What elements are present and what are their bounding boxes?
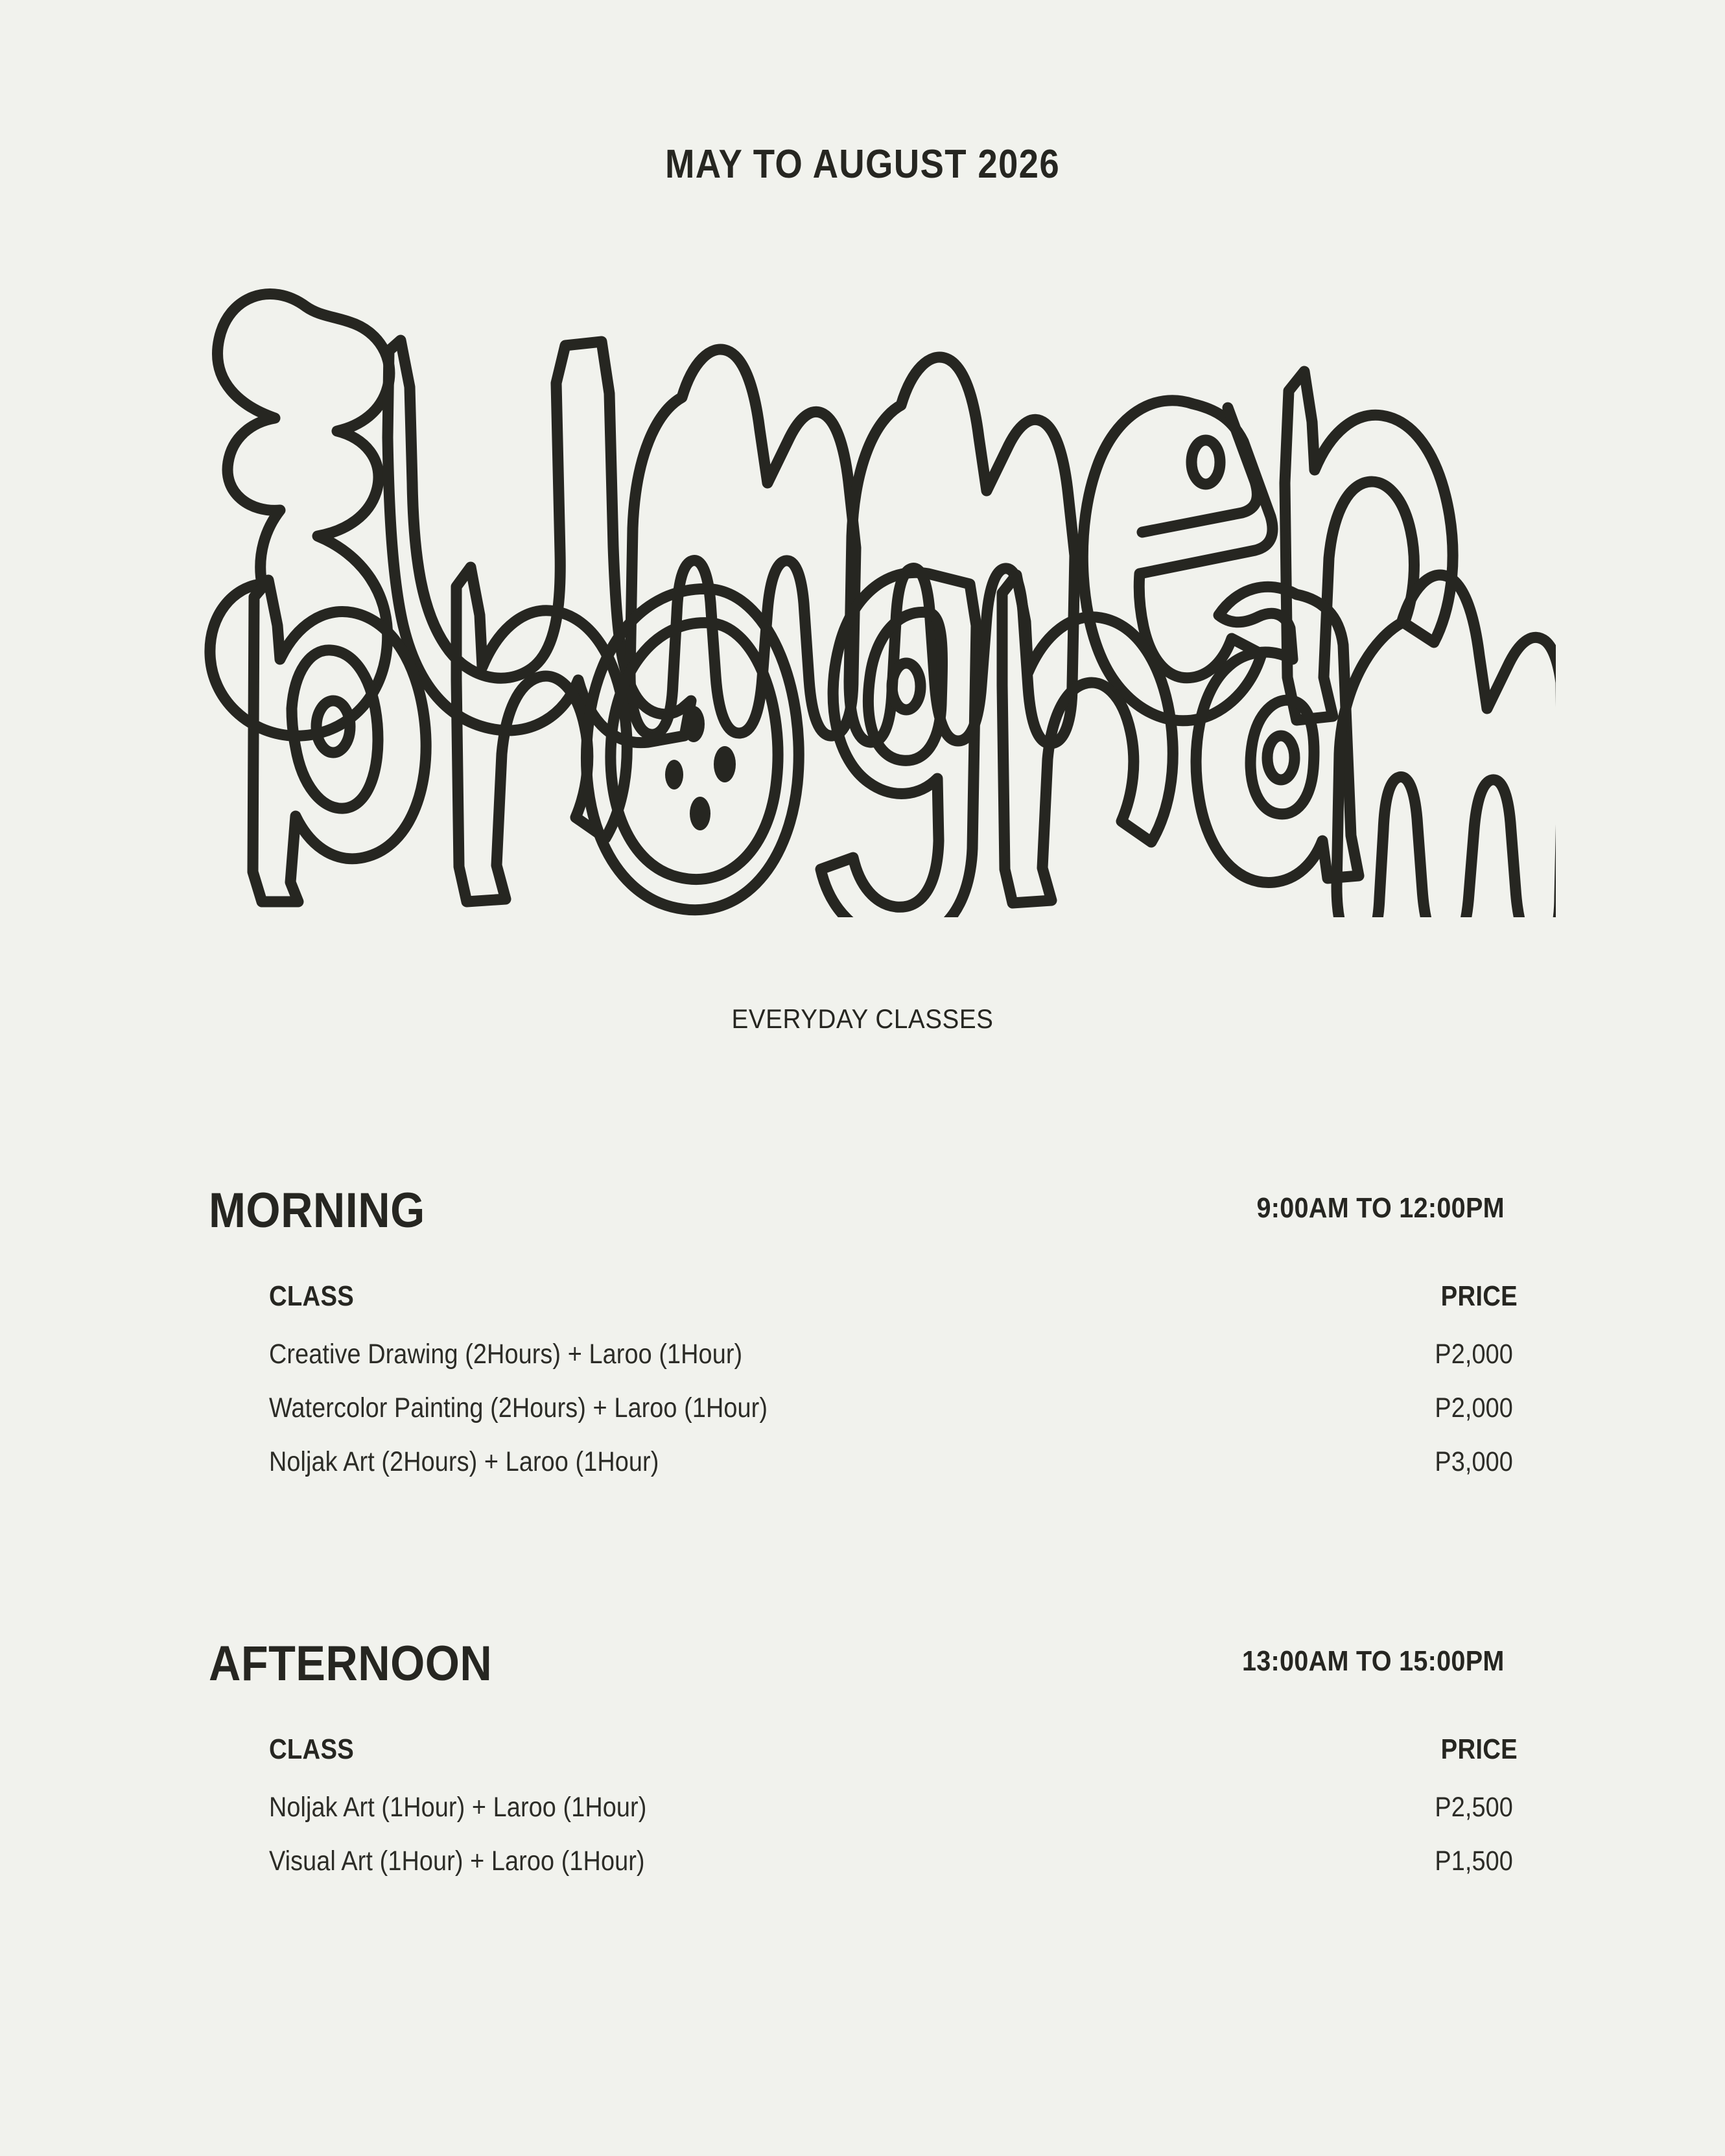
table-row: Noljak Art (2Hours) + Laroo (1Hour) P3,0… — [269, 1446, 1518, 1500]
class-name: Watercolor Painting (2Hours) + Laroo (1H… — [269, 1392, 768, 1424]
title-letter-e — [1083, 401, 1273, 721]
title-letter-m-second — [849, 357, 1075, 744]
class-name: Creative Drawing (2Hours) + Laroo (1Hour… — [269, 1339, 742, 1370]
class-table-morning: CLASS PRICE Creative Drawing (2Hours) + … — [0, 1280, 1725, 1500]
table-header-row: CLASS PRICE — [269, 1280, 1518, 1339]
column-header-class: CLASS — [269, 1733, 354, 1766]
title-letter-m-first — [630, 349, 856, 736]
class-price: P2,500 — [1435, 1792, 1518, 1823]
block-title-afternoon: AFTERNOON — [209, 1639, 492, 1689]
title-letter-o-decorated — [586, 589, 799, 909]
everyday-classes-label: EVERYDAY CLASSES — [69, 1003, 1656, 1035]
class-name: Noljak Art (2Hours) + Laroo (1Hour) — [269, 1446, 659, 1478]
section-spacer — [0, 1500, 1725, 1639]
block-title-morning: MORNING — [209, 1186, 425, 1236]
table-row: Watercolor Painting (2Hours) + Laroo (1H… — [269, 1392, 1518, 1446]
column-header-class: CLASS — [269, 1280, 354, 1313]
column-header-price: PRICE — [1441, 1280, 1518, 1313]
class-table-afternoon: CLASS PRICE Noljak Art (1Hour) + Laroo (… — [0, 1733, 1725, 1899]
date-range-label: MAY TO AUGUST 2026 — [104, 141, 1622, 187]
class-price: P3,000 — [1435, 1446, 1518, 1478]
poster-canvas: MAY TO AUGUST 2026 — [0, 0, 1725, 2156]
class-name: Noljak Art (1Hour) + Laroo (1Hour) — [269, 1792, 646, 1823]
class-price: P2,000 — [1435, 1339, 1518, 1370]
class-name: Visual Art (1Hour) + Laroo (1Hour) — [269, 1845, 645, 1877]
table-row: Creative Drawing (2Hours) + Laroo (1Hour… — [269, 1339, 1518, 1392]
schedule-section: MORNING 9:00AM TO 12:00PM CLASS PRICE Cr… — [0, 1186, 1725, 1899]
class-price: P1,500 — [1435, 1845, 1518, 1877]
block-time-afternoon: 13:00AM TO 15:00PM — [1242, 1639, 1505, 1676]
table-header-row: CLASS PRICE — [269, 1733, 1518, 1792]
title-letter-r — [1285, 371, 1453, 720]
table-row: Visual Art (1Hour) + Laroo (1Hour) P1,50… — [269, 1845, 1518, 1899]
schedule-block-morning: MORNING 9:00AM TO 12:00PM CLASS PRICE Cr… — [0, 1186, 1725, 1500]
column-header-price: PRICE — [1441, 1733, 1518, 1766]
class-price: P2,000 — [1435, 1392, 1518, 1424]
summer-program-title-artwork — [194, 224, 1556, 917]
block-header-afternoon: AFTERNOON 13:00AM TO 15:00PM — [0, 1639, 1725, 1717]
block-time-morning: 9:00AM TO 12:00PM — [1257, 1186, 1505, 1223]
block-header-morning: MORNING 9:00AM TO 12:00PM — [0, 1186, 1725, 1264]
schedule-block-afternoon: AFTERNOON 13:00AM TO 15:00PM CLASS PRICE… — [0, 1639, 1725, 1899]
table-row: Noljak Art (1Hour) + Laroo (1Hour) P2,50… — [269, 1792, 1518, 1845]
